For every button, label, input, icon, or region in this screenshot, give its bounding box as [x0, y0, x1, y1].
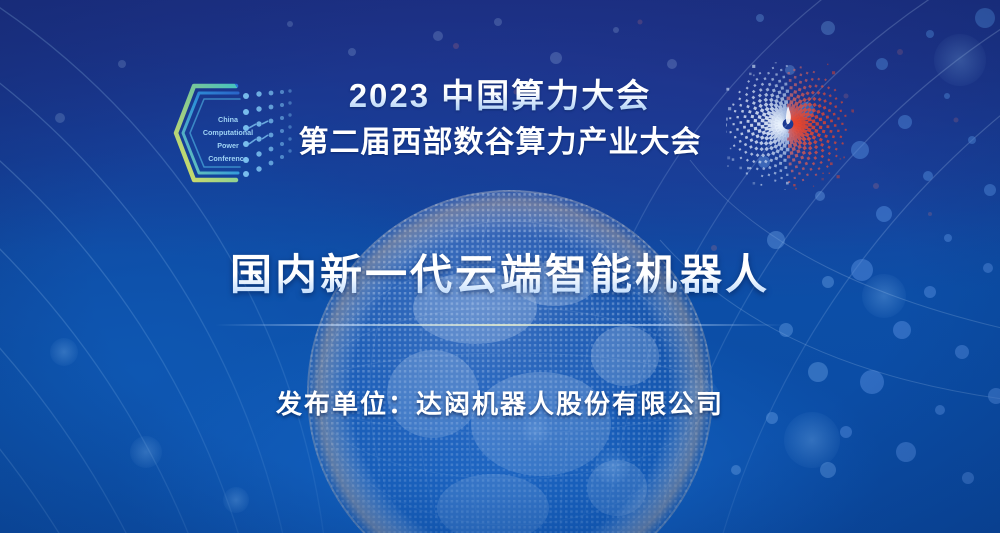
- background-vignette: [0, 0, 1000, 533]
- poster-canvas: China Computational Power Conference: [0, 0, 1000, 533]
